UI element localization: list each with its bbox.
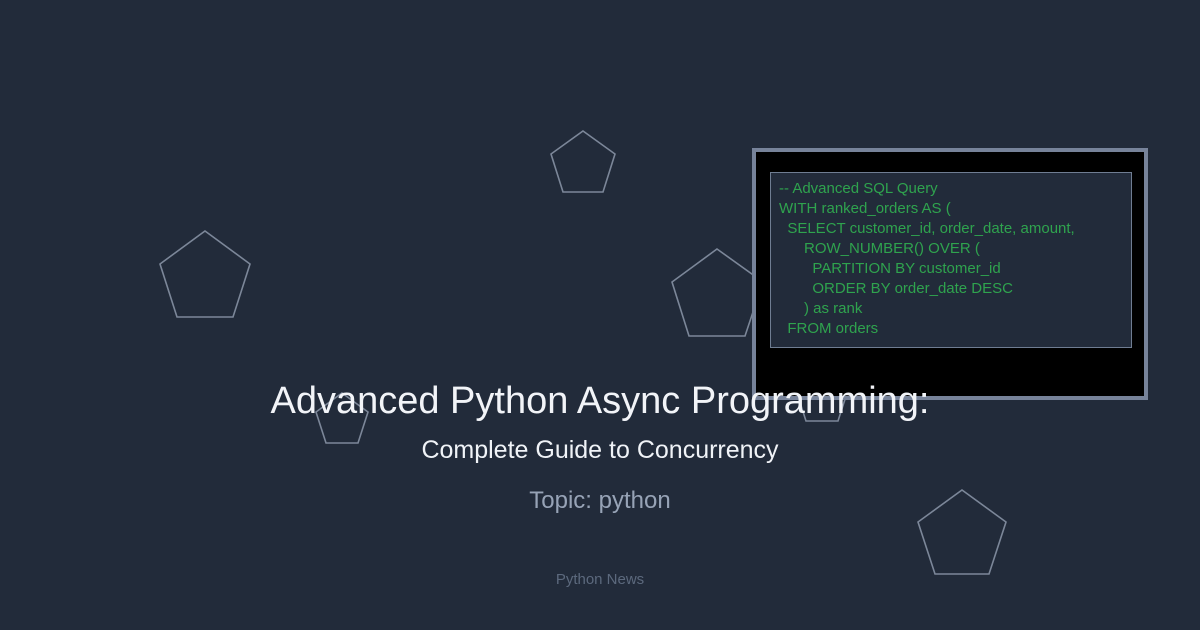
- code-line: FROM orders: [779, 319, 1131, 339]
- code-block-frame: -- Advanced SQL Query WITH ranked_orders…: [752, 148, 1148, 400]
- pentagon-left-icon: [160, 231, 250, 317]
- pentagon-top-center-icon: [551, 131, 615, 192]
- pentagon-title-small-icon: [316, 393, 368, 443]
- code-line: -- Advanced SQL Query: [779, 179, 1131, 199]
- topic-label: Topic: python: [0, 486, 1200, 516]
- code-line: ROW_NUMBER() OVER (: [779, 239, 1131, 259]
- code-line: SELECT customer_id, order_date, amount,: [779, 219, 1131, 239]
- code-line: PARTITION BY customer_id: [779, 259, 1131, 279]
- code-panel: -- Advanced SQL Query WITH ranked_orders…: [770, 172, 1132, 348]
- footer-brand: Python News: [0, 569, 1200, 591]
- code-line: ) as rank: [779, 299, 1131, 319]
- pentagon-bottom-right-icon: [918, 490, 1006, 574]
- page-subtitle: Complete Guide to Concurrency: [0, 434, 1200, 466]
- pentagon-mid-right-icon: [672, 249, 763, 336]
- social-card: -- Advanced SQL Query WITH ranked_orders…: [0, 0, 1200, 630]
- code-line: ORDER BY order_date DESC: [779, 279, 1131, 299]
- code-line: WITH ranked_orders AS (: [779, 199, 1131, 219]
